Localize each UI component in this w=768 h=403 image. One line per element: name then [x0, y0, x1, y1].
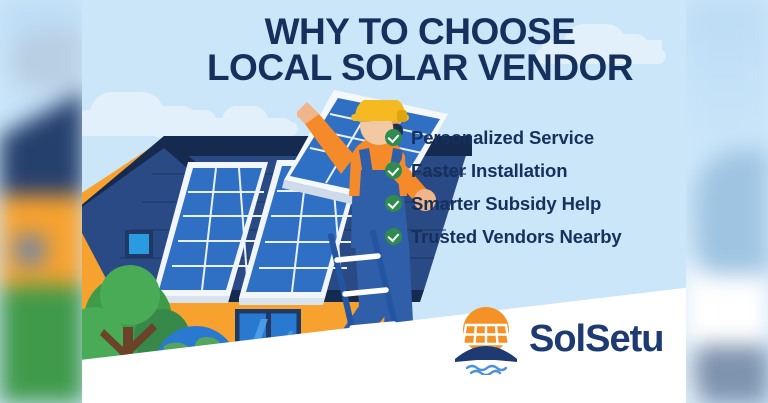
headline-line-1: WHY TO CHOOSE [160, 14, 680, 50]
poster-canvas: WHY TO CHOOSE LOCAL SOLAR VENDOR Persona… [0, 0, 768, 403]
cloud-icon-left [82, 110, 216, 132]
check-circle-icon [385, 195, 402, 212]
blur-blob-window [15, 235, 45, 265]
blurred-left-edge-strip [0, 0, 84, 403]
blur-blob-sky-shade [694, 150, 768, 290]
list-item: Trusted Vendors Nearby [385, 221, 622, 252]
blur-blob-white-band [684, 275, 768, 345]
check-circle-icon [385, 162, 402, 179]
blur-blob-cloud [10, 30, 84, 90]
benefit-label: Smarter Subsidy Help [411, 193, 601, 215]
solar-panel-bridge-logo-icon [449, 303, 523, 375]
check-circle-icon [385, 129, 402, 146]
blur-blob-tree [0, 285, 84, 403]
benefit-label: Personalized Service [411, 127, 594, 149]
benefits-list: Personalized Service Faster Installation… [385, 122, 622, 254]
list-item: Smarter Subsidy Help [385, 188, 622, 219]
brand-name: SolSetu [529, 318, 663, 361]
check-circle-icon [385, 228, 402, 245]
brand-logo: SolSetu [449, 303, 663, 375]
main-illustration: WHY TO CHOOSE LOCAL SOLAR VENDOR Persona… [82, 0, 686, 403]
attic-window-icon [125, 230, 153, 258]
benefit-label: Trusted Vendors Nearby [411, 226, 622, 248]
benefit-label: Faster Installation [411, 160, 567, 182]
blurred-right-edge-strip [684, 0, 768, 403]
headline-line-2: LOCAL SOLAR VENDOR [160, 50, 680, 86]
list-item: Faster Installation [385, 155, 622, 186]
page-title: WHY TO CHOOSE LOCAL SOLAR VENDOR [160, 14, 680, 86]
list-item: Personalized Service [385, 122, 622, 153]
